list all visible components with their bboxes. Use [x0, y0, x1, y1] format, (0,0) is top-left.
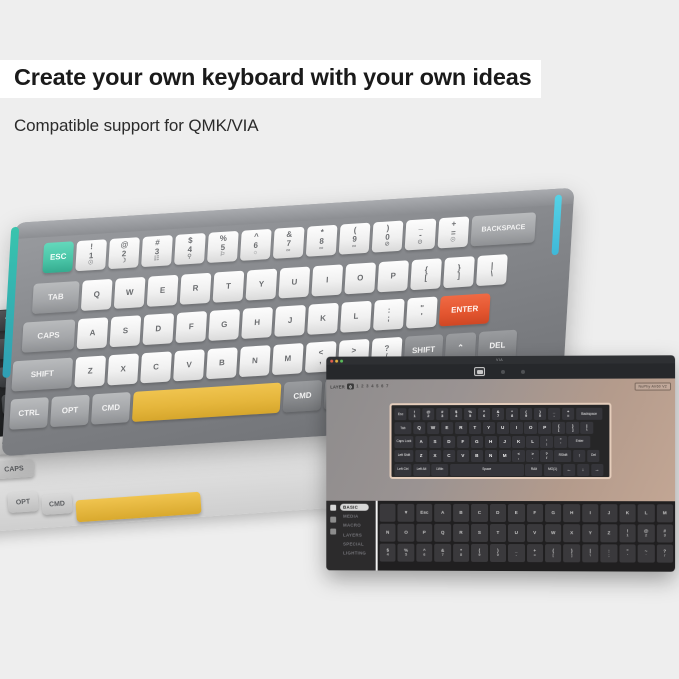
keycap-2: @2☽ [108, 237, 140, 269]
keycap-b: B [206, 347, 238, 379]
keycap-opt: OPT [50, 395, 90, 428]
layer-label: LAYER [330, 384, 345, 389]
key-picker-row: NOPQRSTUVWXYZ!1@2#3 [380, 524, 673, 543]
keycap-o: O [344, 262, 376, 294]
via-key-d[interactable]: D [443, 436, 455, 448]
layer-button-5[interactable]: 5 [376, 383, 379, 389]
sidebar-item-basic[interactable]: BASIC [340, 504, 369, 511]
via-key-left-shift[interactable]: Left Shift [394, 450, 413, 462]
keycap-g: G [208, 309, 240, 341]
via-key-2[interactable]: @2 [422, 408, 434, 420]
picker-key-l[interactable]: L [638, 504, 655, 522]
via-key-j[interactable]: J [499, 436, 511, 448]
keycap-z: Z [74, 355, 106, 387]
via-key-m[interactable]: M [499, 450, 511, 462]
basic-category-icon[interactable] [330, 505, 336, 511]
via-key--[interactable]: <, [512, 450, 524, 462]
keycap-l: L [340, 301, 372, 333]
picker-key--[interactable]: @2 [638, 524, 655, 542]
picker-key--[interactable]: *8 [453, 544, 469, 562]
keycap-shift: SHIFT [11, 358, 73, 392]
via-key-9[interactable]: (9 [520, 408, 532, 420]
keycap-tab: TAB [32, 281, 80, 314]
picker-key--[interactable]: ~` [638, 544, 655, 562]
via-key-y[interactable]: Y [483, 422, 495, 434]
via-key-space[interactable]: Space [450, 464, 524, 476]
via-key-c[interactable]: C [443, 450, 455, 462]
keyboard-icon[interactable] [474, 367, 485, 376]
via-key--[interactable]: → [591, 464, 603, 476]
via-key-n[interactable]: N [485, 450, 497, 462]
picker-key-q[interactable]: Q [435, 524, 451, 542]
picker-key--[interactable]: !1 [619, 524, 636, 542]
picker-key-esc[interactable]: Esc [416, 504, 432, 522]
layer-button-7[interactable]: 7 [386, 383, 389, 389]
picker-key-x[interactable]: X [563, 524, 580, 542]
via-key--[interactable]: {[ [553, 422, 565, 434]
picker-key-y[interactable]: Y [582, 524, 599, 542]
picker-key--[interactable]: ?/ [656, 544, 673, 562]
via-key-z[interactable]: Z [415, 450, 427, 462]
picker-key-g[interactable]: G [545, 504, 561, 522]
keycap-c: C [140, 351, 172, 383]
media-category-icon[interactable] [330, 517, 336, 523]
keycap-k: K [307, 303, 339, 335]
keycap-j: J [274, 305, 306, 337]
via-key-ralt[interactable]: RAlt [525, 464, 542, 476]
via-key--[interactable]: }] [567, 422, 579, 434]
picker-key--[interactable]: :; [601, 544, 618, 562]
via-key-h[interactable]: H [485, 436, 497, 448]
keycap--: }] [443, 256, 475, 288]
via-key--[interactable]: ?/ [540, 450, 552, 462]
via-key--[interactable]: ↑ [573, 450, 585, 462]
via-key-x[interactable]: X [429, 450, 441, 462]
keycap--: _-⊙ [405, 218, 437, 250]
picker-key--[interactable]: #3 [656, 524, 673, 542]
picker-key--[interactable]: ^6 [416, 544, 432, 562]
picker-key-blank[interactable] [380, 504, 396, 522]
via-key-5[interactable]: %5 [464, 408, 476, 420]
keycap-caps: CAPS [22, 319, 76, 352]
via-key-6[interactable]: ^6 [478, 408, 490, 420]
via-key-1[interactable]: !1 [408, 408, 420, 420]
keycap-q: Q [81, 279, 113, 311]
keycap-ctrl: CTRL [9, 397, 49, 430]
keycap--: |\ [476, 254, 508, 286]
via-key--[interactable]: "' [555, 436, 567, 448]
keycap-n: N [239, 345, 271, 377]
via-key--[interactable]: :; [540, 436, 552, 448]
picker-key--[interactable]: "' [619, 544, 636, 562]
picker-key-d[interactable]: D [490, 504, 506, 522]
via-key--[interactable]: ↓ [577, 464, 589, 476]
keycap-i: I [311, 264, 343, 296]
picker-key--[interactable]: %5 [398, 544, 414, 562]
keyboard-side-accent-left [2, 227, 19, 378]
sidebar-item-list[interactable]: BASICMEDIAMACROLAYERSSPECIALLIGHTING [340, 504, 369, 557]
via-key-w[interactable]: W [427, 422, 439, 434]
via-sidebar: BASICMEDIAMACROLAYERSSPECIALLIGHTING [326, 501, 375, 571]
keycap-x: X [107, 353, 139, 385]
via-key-left-alt[interactable]: Left Alt [413, 464, 430, 476]
via-toolbar [326, 363, 675, 379]
via-key-o[interactable]: O [524, 422, 536, 434]
keycap-enter: ENTER [439, 293, 491, 326]
via-key-rshift[interactable]: RShift [555, 450, 572, 462]
keycap-4: $4⚲ [174, 233, 206, 265]
picker-key--[interactable]: ▼ [398, 504, 414, 522]
keycap-5: %5⚐ [207, 231, 239, 263]
layer-button-0[interactable]: 0 [347, 383, 353, 389]
via-key-picker-panel: BASICMEDIAMACROLAYERSSPECIALLIGHTING ▼Es… [326, 501, 675, 572]
keycap-t: T [213, 271, 245, 303]
keycap-key [132, 383, 282, 422]
key-picker-row: ▼EscABCDEFGHIJKLM [380, 504, 673, 523]
picker-key-r[interactable]: R [453, 524, 469, 542]
via-key-4[interactable]: $4 [450, 408, 462, 420]
picker-key--[interactable]: $4 [380, 544, 396, 562]
via-titlebar: VIA [326, 355, 675, 364]
picker-key-o[interactable]: O [398, 524, 414, 542]
key-picker-grid[interactable]: ▼EscABCDEFGHIJKLMNOPQRSTUVWXYZ!1@2#3$4%5… [376, 501, 675, 572]
keycap--: +=☉ [438, 216, 470, 248]
picker-key-c[interactable]: C [471, 504, 487, 522]
layer-button-2[interactable]: 2 [361, 383, 364, 389]
via-key--[interactable]: ← [563, 464, 575, 476]
picker-key--[interactable]: )0 [490, 544, 506, 562]
keycap-e: E [147, 275, 179, 307]
layer-selector[interactable]: LAYER 01234567 [330, 383, 388, 389]
sidebar-item-media[interactable]: MEDIA [340, 513, 369, 520]
layer-button-1[interactable]: 1 [356, 383, 359, 389]
via-key-e[interactable]: E [441, 422, 453, 434]
picker-key--[interactable]: {[ [545, 544, 561, 562]
picker-key-b[interactable]: B [453, 504, 469, 522]
picker-key-h[interactable]: H [563, 504, 580, 522]
keycap-y: Y [246, 269, 278, 301]
keycap--: {[ [410, 258, 442, 290]
keycap-a: A [77, 317, 109, 349]
via-key-esc[interactable]: Esc [394, 408, 406, 420]
via-key-tab[interactable]: Tab [394, 422, 411, 434]
sidebar-item-special[interactable]: SPECIAL [340, 540, 369, 547]
picker-key-n[interactable]: N [380, 524, 396, 542]
via-key-s[interactable]: S [429, 436, 441, 448]
via-app-window[interactable]: VIA LAYER 01234567 NuPhy Air60 V2 Esc!1@… [326, 355, 675, 571]
keycap-u: U [278, 266, 310, 298]
picker-key-i[interactable]: I [582, 504, 599, 522]
layer-button-6[interactable]: 6 [381, 383, 384, 389]
keycap-v: V [173, 349, 205, 381]
keycap-backspace: BACKSPACE [470, 212, 536, 246]
via-key-i[interactable]: I [510, 422, 522, 434]
via-key-a[interactable]: A [415, 436, 427, 448]
via-key--[interactable]: _- [548, 408, 560, 420]
keycap-9: (9∞ [339, 223, 371, 255]
info-dot-icon[interactable] [521, 369, 525, 373]
keycap-6: ^6☼ [240, 229, 272, 261]
via-key-k[interactable]: K [512, 436, 524, 448]
keycap--: "' [406, 297, 438, 329]
via-key-lwin[interactable]: LWin [431, 464, 448, 476]
keycap-7: &7∞ [273, 227, 305, 259]
via-key-p[interactable]: P [538, 422, 550, 434]
picker-key-s[interactable]: S [471, 524, 487, 542]
page-subtitle: Compatible support for QMK/VIA [0, 116, 679, 136]
via-number-row: Esc!1@2#3$4%5^6&7*8(9)0_-+=Backspace [394, 408, 606, 421]
via-key-8[interactable]: *8 [506, 408, 518, 420]
picker-key--[interactable]: += [527, 544, 543, 562]
via-key-v[interactable]: V [457, 450, 469, 462]
via-key-7[interactable]: &7 [492, 408, 504, 420]
via-key-mo-1-[interactable]: MO(1) [544, 464, 561, 476]
via-key-q[interactable]: Q [413, 422, 425, 434]
picker-key-u[interactable]: U [508, 524, 524, 542]
screenshot-root: Create your own keyboard with your own i… [0, 0, 679, 679]
page-title: Create your own keyboard with your own i… [0, 60, 541, 98]
via-key--[interactable]: |\ [581, 422, 593, 434]
via-key--[interactable]: >. [526, 450, 538, 462]
picker-key-j[interactable]: J [601, 504, 618, 522]
device-badge[interactable]: NuPhy Air60 V2 [634, 382, 671, 390]
picker-key--[interactable]: _- [508, 544, 524, 562]
key-picker-row: $4%5^6&7*8(9)0_-+={[}]|\:;"'~`?/ [380, 544, 673, 563]
stacked-key-opt-light: OPT [7, 491, 38, 513]
via-key-t[interactable]: T [469, 422, 481, 434]
via-key-enter[interactable]: Enter [569, 436, 591, 448]
keycap-s: S [110, 315, 142, 347]
sidebar-item-layers[interactable]: LAYERS [340, 531, 369, 538]
via-bottom-row: Left CtrlLeft AltLWinSpaceRAltMO(1)←↓→ [394, 464, 606, 476]
picker-key-m[interactable]: M [656, 504, 673, 522]
window-title: VIA [326, 357, 675, 362]
sidebar-item-lighting[interactable]: LIGHTING [340, 549, 369, 556]
via-key-r[interactable]: R [455, 422, 467, 434]
keycap-cmd: CMD [91, 392, 131, 425]
via-key--[interactable]: += [562, 408, 574, 420]
keycap-1: !1☉ [75, 239, 107, 271]
layer-number-list[interactable]: 01234567 [347, 383, 388, 389]
keycap-f: F [175, 311, 207, 343]
via-key-l[interactable]: L [526, 436, 538, 448]
via-key-b[interactable]: B [471, 450, 483, 462]
stacked-key-caps-light: CAPS [0, 459, 35, 480]
via-key-caps-lock[interactable]: Caps Lock [394, 436, 413, 448]
via-key-del[interactable]: Del [587, 450, 599, 462]
via-key-backspace[interactable]: Backspace [576, 408, 602, 420]
picker-key-v[interactable]: V [527, 524, 543, 542]
via-key-g[interactable]: G [471, 436, 483, 448]
keycap--: :; [373, 299, 405, 331]
via-key-f[interactable]: F [457, 436, 469, 448]
via-keymap-preview[interactable]: Esc!1@2#3$4%5^6&7*8(9)0_-+=BackspaceTabQ… [390, 403, 612, 479]
keycap-h: H [241, 307, 273, 339]
picker-key-k[interactable]: K [619, 504, 636, 522]
keycap-w: W [114, 277, 146, 309]
picker-key-e[interactable]: E [508, 504, 524, 522]
settings-dot-icon[interactable] [501, 369, 505, 373]
sidebar-item-macro[interactable]: MACRO [340, 522, 369, 529]
layer-button-3[interactable]: 3 [366, 383, 369, 389]
via-key-u[interactable]: U [497, 422, 509, 434]
stacked-key-cmd-light: CMD [41, 493, 72, 515]
keycap-d: D [142, 313, 174, 345]
via-home-row: Caps LockASDFGHJKL:;"'Enter [394, 436, 606, 449]
picker-key-a[interactable]: A [435, 504, 451, 522]
picker-key--[interactable]: |\ [582, 544, 599, 562]
picker-key-t[interactable]: T [490, 524, 506, 542]
keycap-esc: ESC [42, 241, 74, 273]
via-key-0[interactable]: )0 [534, 408, 546, 420]
keycap-3: #3☷ [141, 235, 173, 267]
via-shift-row: Left ShiftZXCVBNM<,>.?/RShift↑Del [394, 450, 606, 462]
via-main-panel: LAYER 01234567 NuPhy Air60 V2 Esc!1@2#3$… [326, 378, 675, 501]
via-qwerty-row: TabQWERTYUIOP{[}]|\ [394, 422, 606, 435]
sidebar-icon-column [328, 504, 337, 535]
picker-key--[interactable]: }] [563, 544, 580, 562]
keycap-p: P [377, 260, 409, 292]
lighting-category-icon[interactable] [330, 529, 336, 535]
via-key-left-ctrl[interactable]: Left Ctrl [394, 464, 411, 476]
picker-key-p[interactable]: P [416, 524, 432, 542]
keycap-cmd: CMD [283, 380, 323, 413]
picker-key-w[interactable]: W [545, 524, 561, 542]
keycap-8: *8∞ [306, 225, 338, 257]
via-key-3[interactable]: #3 [436, 408, 448, 420]
keycap-m: M [272, 343, 304, 375]
picker-key-z[interactable]: Z [601, 524, 618, 542]
picker-key-f[interactable]: F [527, 504, 543, 522]
keycap-r: R [180, 273, 212, 305]
layer-button-4[interactable]: 4 [371, 383, 374, 389]
picker-key--[interactable]: &7 [435, 544, 451, 562]
keycap-0: )0⊘ [372, 221, 404, 253]
picker-key--[interactable]: (9 [471, 544, 487, 562]
headline-block: Create your own keyboard with your own i… [0, 60, 679, 136]
